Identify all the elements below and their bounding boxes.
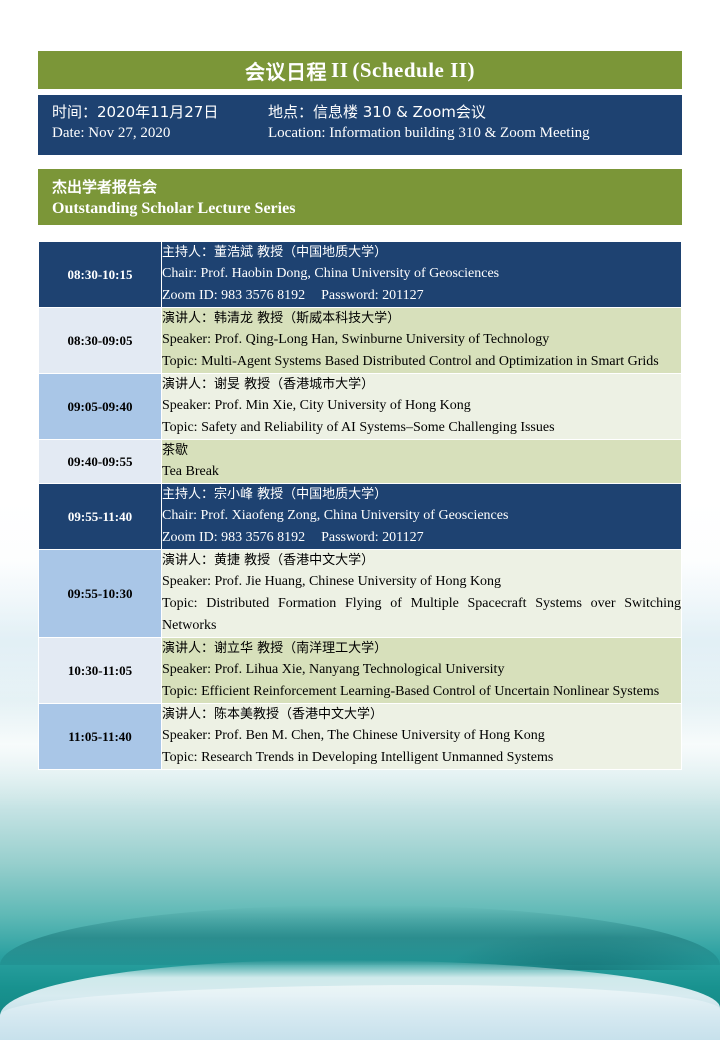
section-header-english: Outstanding Scholar Lecture Series [52,198,682,220]
row-chinese-line: 演讲人：谢立华 教授（南洋理工大学） [162,638,681,659]
row-chinese-line: 主持人：宗小峰 教授（中国地质大学） [162,484,681,505]
row-time: 08:30-09:05 [39,308,162,374]
row-english-line-2: Zoom ID: 983 3576 8192Password: 201127 [162,285,681,307]
row-time: 10:30-11:05 [39,638,162,704]
row-english-line-1: Speaker: Prof. Ben M. Chen, The Chinese … [162,725,681,747]
row-chinese-line: 演讲人：陈本美教授（香港中文大学） [162,704,681,725]
table-row: 09:55-10:30 演讲人：黄捷 教授（香港中文大学） Speaker: P… [39,550,682,638]
page-title-english: (Schedule II) [352,58,475,83]
event-info-bar: 时间：2020年11月27日 地点：信息楼 310 & Zoom会议 Date:… [38,95,682,155]
row-chinese-line: 茶歇 [162,440,681,461]
row-chinese-line: 演讲人：韩清龙 教授（斯威本科技大学） [162,308,681,329]
row-time: 11:05-11:40 [39,704,162,770]
poster-content: 会议日程II(Schedule II) 时间：2020年11月27日 地点：信息… [38,0,682,770]
zoom-password: Password: 201127 [321,288,424,303]
row-time: 09:55-10:30 [39,550,162,638]
row-details: 主持人：董浩斌 教授（中国地质大学） Chair: Prof. Haobin D… [162,242,682,308]
row-chinese-line: 演讲人：黄捷 教授（香港中文大学） [162,550,681,571]
row-english-line-1: Tea Break [162,461,681,483]
row-details: 演讲人：陈本美教授（香港中文大学） Speaker: Prof. Ben M. … [162,704,682,770]
background-dark-wave [440,930,720,970]
table-row: 11:05-11:40 演讲人：陈本美教授（香港中文大学） Speaker: P… [39,704,682,770]
zoom-password: Password: 201127 [321,530,424,545]
row-details: 演讲人：谢旻 教授（香港城市大学） Speaker: Prof. Min Xie… [162,374,682,440]
table-row: 09:40-09:55 茶歇 Tea Break [39,440,682,484]
row-english-line-1: Speaker: Prof. Lihua Xie, Nanyang Techno… [162,659,681,681]
section-header-chinese: 杰出学者报告会 [52,177,682,198]
row-chinese-line: 主持人：董浩斌 教授（中国地质大学） [162,242,681,263]
row-time: 09:55-11:40 [39,484,162,550]
page-title: 会议日程II(Schedule II) [38,51,682,89]
page-title-roman: II [331,58,348,83]
zoom-id: Zoom ID: 983 3576 8192 [162,530,305,545]
row-chinese-line: 演讲人：谢旻 教授（香港城市大学） [162,374,681,395]
section-header: 杰出学者报告会 Outstanding Scholar Lecture Seri… [38,169,682,225]
row-details: 演讲人：韩清龙 教授（斯威本科技大学） Speaker: Prof. Qing-… [162,308,682,374]
row-time: 09:40-09:55 [39,440,162,484]
row-english-line-2: Topic: Efficient Reinforcement Learning-… [162,681,681,703]
event-date-chinese: 时间：2020年11月27日 [52,101,268,122]
table-row: 09:05-09:40 演讲人：谢旻 教授（香港城市大学） Speaker: P… [39,374,682,440]
background-wave-foam-2 [0,985,720,1040]
row-english-line-1: Chair: Prof. Haobin Dong, China Universi… [162,263,681,285]
row-english-line-1: Speaker: Prof. Qing-Long Han, Swinburne … [162,329,681,351]
row-english-line-2: Zoom ID: 983 3576 8192Password: 201127 [162,527,681,549]
row-english-line-1: Speaker: Prof. Jie Huang, Chinese Univer… [162,571,681,593]
row-english-line-2: Topic: Multi-Agent Systems Based Distrib… [162,351,681,373]
table-row: 09:55-11:40 主持人：宗小峰 教授（中国地质大学） Chair: Pr… [39,484,682,550]
row-english-line-1: Speaker: Prof. Min Xie, City University … [162,395,681,417]
row-details: 演讲人：谢立华 教授（南洋理工大学） Speaker: Prof. Lihua … [162,638,682,704]
event-info-row-english: Date: Nov 27, 2020 Location: Information… [52,125,682,149]
background-wave-foam [0,960,720,1040]
event-date-english: Date: Nov 27, 2020 [52,125,268,142]
row-time: 09:05-09:40 [39,374,162,440]
row-english-line-2: Topic: Distributed Formation Flying of M… [162,593,681,637]
schedule-table-body: 08:30-10:15 主持人：董浩斌 教授（中国地质大学） Chair: Pr… [39,242,682,770]
table-row: 10:30-11:05 演讲人：谢立华 教授（南洋理工大学） Speaker: … [39,638,682,704]
row-details: 茶歇 Tea Break [162,440,682,484]
event-info-row-chinese: 时间：2020年11月27日 地点：信息楼 310 & Zoom会议 [52,101,682,125]
zoom-id: Zoom ID: 983 3576 8192 [162,288,305,303]
table-row: 08:30-10:15 主持人：董浩斌 教授（中国地质大学） Chair: Pr… [39,242,682,308]
row-time: 08:30-10:15 [39,242,162,308]
row-details: 主持人：宗小峰 教授（中国地质大学） Chair: Prof. Xiaofeng… [162,484,682,550]
background-wave-ridge [0,905,720,965]
event-location-chinese: 地点：信息楼 310 & Zoom会议 [268,101,486,122]
row-english-line-1: Chair: Prof. Xiaofeng Zong, China Univer… [162,505,681,527]
schedule-table: 08:30-10:15 主持人：董浩斌 教授（中国地质大学） Chair: Pr… [38,241,682,770]
row-details: 演讲人：黄捷 教授（香港中文大学） Speaker: Prof. Jie Hua… [162,550,682,638]
schedule-poster: 会议日程II(Schedule II) 时间：2020年11月27日 地点：信息… [0,0,720,1040]
page-title-chinese: 会议日程 [245,56,327,85]
event-location-english: Location: Information building 310 & Zoo… [268,125,590,142]
row-english-line-2: Topic: Research Trends in Developing Int… [162,747,681,769]
row-english-line-2: Topic: Safety and Reliability of AI Syst… [162,417,681,439]
table-row: 08:30-09:05 演讲人：韩清龙 教授（斯威本科技大学） Speaker:… [39,308,682,374]
